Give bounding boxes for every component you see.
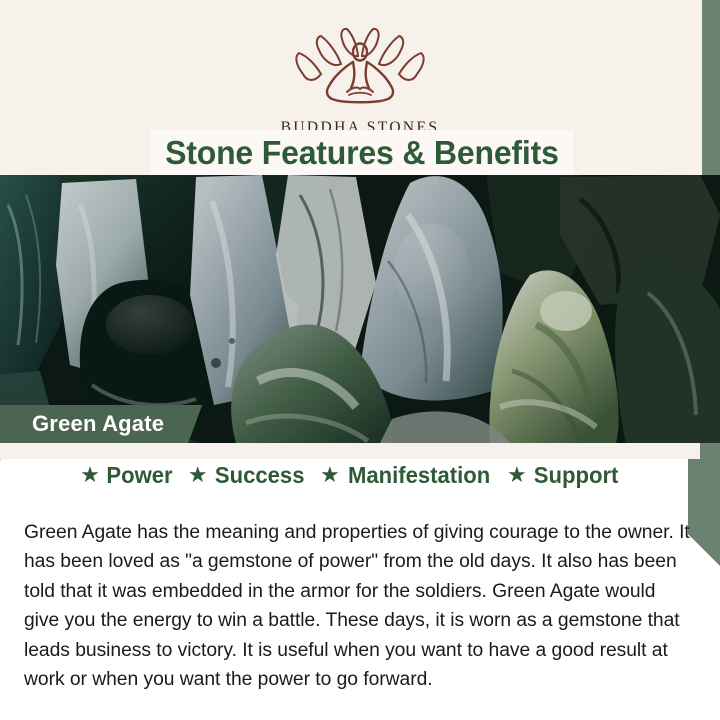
benefit-label: Success	[215, 462, 305, 489]
stone-info-card: BUDDHA STONES Stone Features & Benefits	[0, 0, 720, 720]
brand-logo: BUDDHA STONES	[0, 26, 720, 137]
star-icon: ★	[80, 464, 100, 486]
star-icon: ★	[320, 464, 340, 486]
stone-name-banner: Green Agate	[0, 405, 202, 443]
benefit-label: Manifestation	[348, 462, 490, 489]
benefit-item-success: ★ Success	[188, 462, 306, 489]
benefit-label: Support	[533, 462, 618, 489]
benefit-label: Power	[106, 462, 172, 489]
lotus-meditation-icon	[285, 26, 435, 115]
stone-description: Green Agate has the meaning and properti…	[24, 518, 690, 695]
benefits-row: ★ Power ★ Success ★ Manifestation ★ Supp…	[0, 462, 700, 489]
stone-name: Green Agate	[32, 411, 164, 437]
page-title-bar: Stone Features & Benefits	[151, 130, 573, 176]
benefit-item-manifestation: ★ Manifestation	[320, 462, 493, 489]
star-icon: ★	[507, 464, 527, 486]
benefit-item-support: ★ Support	[507, 462, 620, 489]
stone-photo	[0, 175, 720, 443]
cream-divider-strip	[0, 443, 700, 459]
page-title: Stone Features & Benefits	[165, 134, 559, 172]
benefit-item-power: ★ Power	[80, 462, 174, 489]
star-icon: ★	[188, 464, 208, 486]
